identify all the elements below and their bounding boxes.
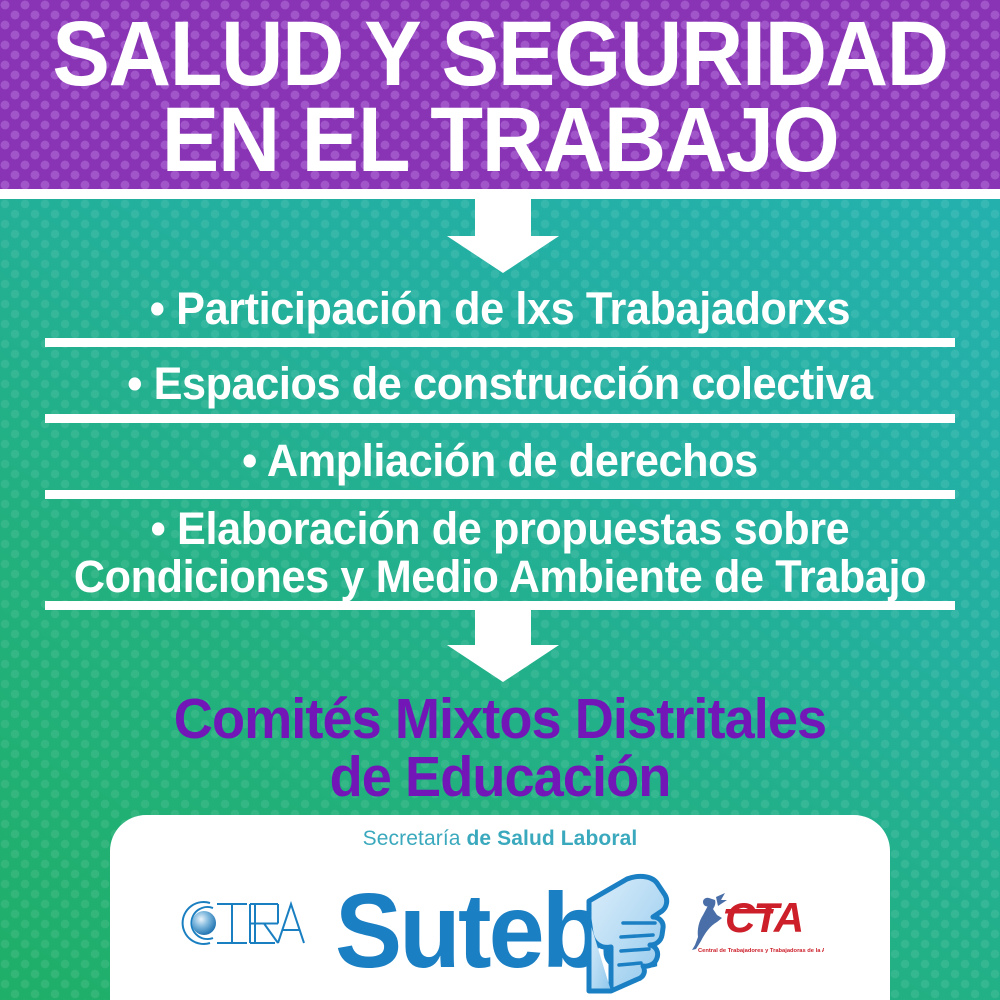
bullet-item-2: • Espacios de construcción colectiva bbox=[20, 360, 980, 408]
divider-1 bbox=[45, 338, 955, 347]
cta-tagline: Central de Trabajadores y Trabajadoras d… bbox=[698, 948, 824, 954]
footer-caption-bold: de Salud Laboral bbox=[467, 827, 638, 850]
figure-icon bbox=[692, 893, 727, 950]
poster-root: SALUD Y SEGURIDAD EN EL TRABAJO • Partic… bbox=[0, 0, 1000, 1000]
page-title: SALUD Y SEGURIDAD EN EL TRABAJO bbox=[30, 12, 970, 183]
divider-2 bbox=[45, 414, 955, 423]
down-arrow-icon bbox=[447, 608, 559, 682]
footer-panel: Secretaría de Salud Laboral bbox=[110, 815, 890, 1000]
svg-text:CTA: CTA bbox=[725, 894, 802, 941]
cta-logo: CTA Central de Trabajadores y Trabajador… bbox=[688, 889, 824, 959]
down-arrow-icon bbox=[447, 199, 559, 273]
footer-caption: Secretaría de Salud Laboral bbox=[110, 827, 890, 851]
logo-row: Suteba bbox=[110, 867, 890, 995]
divider-3 bbox=[45, 490, 955, 499]
header-banner: SALUD Y SEGURIDAD EN EL TRABAJO bbox=[0, 0, 1000, 189]
suteba-logo: Suteba bbox=[335, 867, 675, 995]
bullet-item-4: • Elaboración de propuestas sobre Condic… bbox=[20, 505, 980, 600]
outcome-text: Comités Mixtos Distritales de Educación bbox=[25, 690, 975, 806]
ctera-logo bbox=[180, 895, 305, 951]
hand-flag-icon bbox=[589, 876, 667, 991]
footer-caption-light: Secretaría bbox=[363, 827, 467, 850]
bullet-item-3: • Ampliación de derechos bbox=[20, 437, 980, 485]
bullet-item-1: • Participación de lxs Trabajadorxs bbox=[20, 285, 980, 333]
